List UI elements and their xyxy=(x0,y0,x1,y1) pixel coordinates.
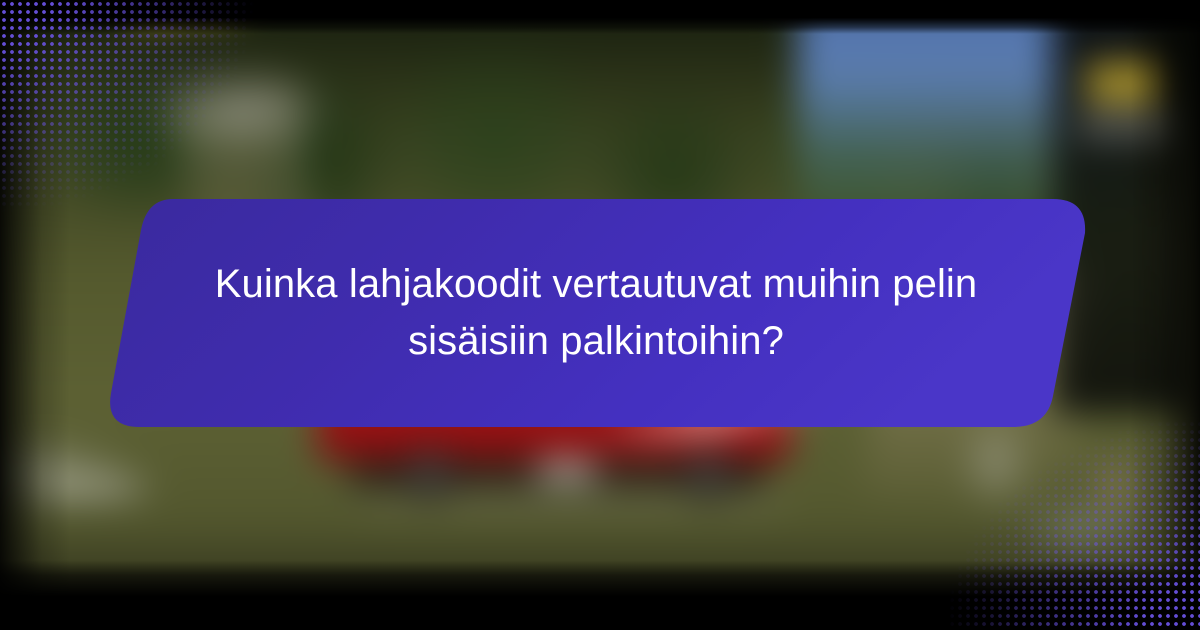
vehicle-headlight xyxy=(538,457,596,482)
question-line-1: Kuinka lahjakoodit vertautuvat muihin pe… xyxy=(215,256,978,313)
social-card-canvas: Kuinka lahjakoodit vertautuvat muihin pe… xyxy=(0,0,1200,630)
question-line-2: sisäisiin palkintoihin? xyxy=(408,313,784,370)
vehicle-wheel-left xyxy=(400,449,458,501)
vehicle-wheel-right xyxy=(679,449,737,501)
question-card: Kuinka lahjakoodit vertautuvat muihin pe… xyxy=(103,196,1089,430)
question-text-block: Kuinka lahjakoodit vertautuvat muihin pe… xyxy=(103,196,1089,430)
